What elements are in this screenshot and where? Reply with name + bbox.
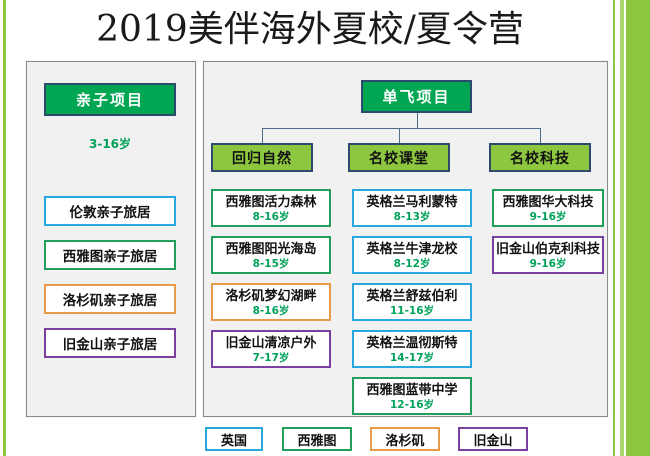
category-label-classroom: 名校课堂 (369, 148, 429, 168)
program-item-nature[interactable]: 洛杉矶梦幻湖畔8-16岁 (211, 283, 331, 321)
connector-root-stem (417, 113, 418, 128)
right-edge-stripe-wide (626, 0, 650, 456)
legend-item-label: 英国 (221, 430, 247, 449)
legend-item-label: 旧金山 (473, 430, 512, 449)
program-box[interactable]: 洛杉矶亲子旅居 (44, 284, 176, 314)
parent-child-header-box[interactable]: 亲子项目 (44, 83, 176, 116)
legend-item-label: 洛杉矶 (385, 430, 424, 449)
program-item-name: 洛杉矶梦幻湖畔 (225, 288, 316, 305)
page-title: 2019美伴海外夏校/夏令营 (60, 6, 560, 54)
parent-child-header-label: 亲子项目 (76, 89, 144, 110)
program-item-name: 西雅图华大科技 (502, 194, 593, 211)
program-item-age: 9-16岁 (530, 258, 567, 271)
program-item-age: 9-16岁 (530, 211, 567, 224)
connector-drop-0 (262, 128, 263, 143)
program-item-classroom[interactable]: 英格兰舒兹伯利11-16岁 (352, 283, 472, 321)
program-item-age: 8-12岁 (394, 258, 431, 271)
program-box[interactable]: 西雅图亲子旅居 (44, 240, 176, 270)
legend: 英国西雅图洛杉矶旧金山 (205, 427, 495, 453)
program-item-age: 7-17岁 (253, 352, 290, 365)
legend-item[interactable]: 英国 (205, 427, 263, 451)
program-item-classroom[interactable]: 英格兰牛津龙校8-12岁 (352, 236, 472, 274)
right-edge-stripe-thin (613, 0, 615, 456)
program-item-technology[interactable]: 旧金山伯克利科技9-16岁 (492, 236, 604, 274)
program-box[interactable]: 伦敦亲子旅居 (44, 196, 176, 226)
program-item-classroom[interactable]: 英格兰马利蒙特8-13岁 (352, 189, 472, 227)
program-item-classroom[interactable]: 英格兰温彻斯特14-17岁 (352, 330, 472, 368)
category-label-technology: 名校科技 (510, 148, 570, 168)
program-item-name: 旧金山伯克利科技 (496, 241, 600, 258)
program-item-name: 英格兰牛津龙校 (366, 241, 457, 258)
category-box-technology[interactable]: 名校科技 (489, 143, 591, 172)
legend-item[interactable]: 洛杉矶 (370, 427, 440, 451)
program-item-name: 西雅图蓝带中学 (366, 382, 457, 399)
connector-drop-2 (540, 128, 541, 143)
category-box-classroom[interactable]: 名校课堂 (348, 143, 450, 172)
program-item-age: 11-16岁 (390, 305, 434, 318)
program-item-age: 8-13岁 (394, 211, 431, 224)
program-label: 西雅图亲子旅居 (63, 245, 158, 265)
slide-canvas: 2019美伴海外夏校/夏令营 亲子项目 3-16岁 伦敦亲子旅居西雅图亲子旅居洛… (0, 0, 650, 456)
program-item-name: 旧金山清凉户外 (225, 335, 316, 352)
program-label: 旧金山亲子旅居 (63, 333, 158, 353)
category-label-nature: 回归自然 (232, 148, 292, 168)
program-item-name: 英格兰舒兹伯利 (366, 288, 457, 305)
program-item-name: 英格兰马利蒙特 (366, 194, 457, 211)
program-item-name: 西雅图活力森林 (225, 194, 316, 211)
right-edge-stripe-mid (620, 0, 624, 456)
program-item-nature[interactable]: 西雅图阳光海岛8-15岁 (211, 236, 331, 274)
program-box[interactable]: 旧金山亲子旅居 (44, 328, 176, 358)
program-item-nature[interactable]: 旧金山清凉户外7-17岁 (211, 330, 331, 368)
program-item-classroom[interactable]: 西雅图蓝带中学12-16岁 (352, 377, 472, 415)
left-edge-stripe (3, 0, 6, 456)
program-item-name: 西雅图阳光海岛 (225, 241, 316, 258)
program-label: 伦敦亲子旅居 (70, 201, 151, 221)
program-item-name: 英格兰温彻斯特 (366, 335, 457, 352)
connector-drop-1 (399, 128, 400, 143)
legend-item[interactable]: 西雅图 (282, 427, 352, 451)
program-label: 洛杉矶亲子旅居 (63, 289, 158, 309)
parent-child-age-range: 3-16岁 (44, 135, 176, 153)
program-item-nature[interactable]: 西雅图活力森林8-16岁 (211, 189, 331, 227)
legend-item-label: 西雅图 (297, 430, 336, 449)
legend-item[interactable]: 旧金山 (458, 427, 528, 451)
program-item-age: 14-17岁 (390, 352, 434, 365)
program-item-age: 8-15岁 (253, 258, 290, 271)
category-box-nature[interactable]: 回归自然 (211, 143, 313, 172)
program-item-age: 12-16岁 (390, 399, 434, 412)
right-edge-stripe-gap (624, 0, 626, 456)
connector-horizontal-bus (262, 128, 541, 129)
solo-flight-header-box[interactable]: 单飞项目 (361, 80, 472, 113)
program-item-technology[interactable]: 西雅图华大科技9-16岁 (492, 189, 604, 227)
program-item-age: 8-16岁 (253, 211, 290, 224)
program-item-age: 8-16岁 (253, 305, 290, 318)
solo-flight-header-label: 单飞项目 (382, 86, 450, 107)
